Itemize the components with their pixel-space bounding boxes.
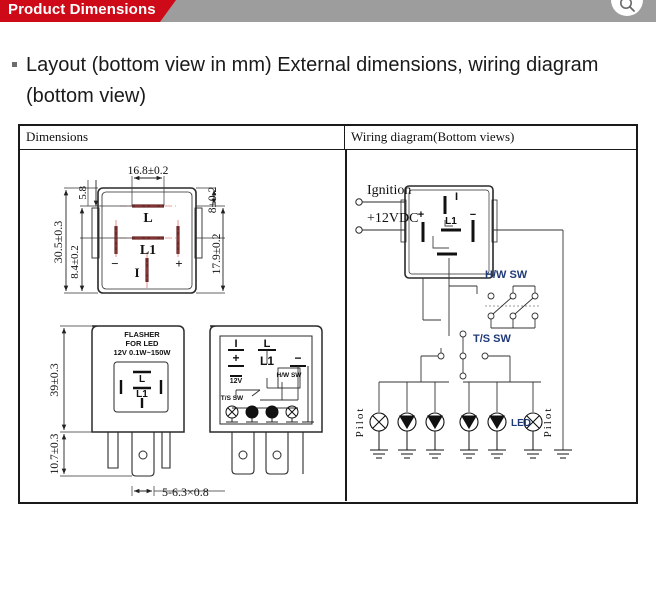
schematic-voltage: 12V (230, 378, 243, 385)
dimensions-figure: Dimensions Wiring diagram(Bottom views) (18, 124, 638, 504)
label-for-led: FOR LED (126, 339, 159, 348)
label-flasher: FLASHER (124, 330, 160, 339)
label-ignition: Ignition (367, 183, 411, 198)
dim-left-outer: 30.5±0.3 (51, 221, 65, 264)
schematic-hw-sw-line1: H/W SW (277, 372, 303, 379)
terminal-label-minus: − (111, 256, 118, 271)
schematic-terminal-minus: − (294, 351, 301, 365)
heading-label: Layout (bottom view in mm) External dime… (26, 50, 606, 112)
terminal-label-l: L (143, 211, 152, 226)
schematic-terminal-l1: L1 (260, 354, 274, 368)
square-bullet-icon (12, 62, 17, 67)
dim-top-width: 16.8±0.2 (128, 165, 169, 177)
dimension-drawings: 5.8 16.8±0.2 8±0.2 30.5±0.3 8.4±0.2 17.9… (20, 150, 345, 528)
terminal-label-i: I (134, 265, 139, 280)
schematic-ts-sw: T/S SW (221, 395, 244, 402)
relay-terminal-plus: + (418, 209, 424, 221)
dim-top-small: 5.8 (77, 186, 89, 200)
schematic-terminal-i: I (234, 338, 237, 350)
schematic-terminal-plus: + (232, 351, 239, 365)
relay-terminal-minus: − (470, 209, 476, 221)
label-pilot-left: Pilot (354, 407, 366, 438)
label-hw-sw: H/W SW (485, 269, 528, 281)
dim-top-right: 8±0.2 (207, 187, 219, 214)
dim-pin-spec: 5-6.3×0.8 (162, 485, 209, 499)
label-supply-voltage: +12VDC (367, 211, 418, 226)
relay-terminal-i: I (455, 191, 458, 203)
terminal-label-plus: + (175, 256, 182, 271)
dim-pin-height: 10.7±0.3 (49, 433, 61, 474)
label-pilot-right: Pilot (542, 407, 554, 438)
face-terminal-l1: L1 (136, 389, 148, 400)
panel-header-wiring: Wiring diagram(Bottom views) (345, 126, 637, 150)
schematic-terminal-l: L (264, 338, 271, 350)
dim-body-height: 39±0.3 (47, 363, 61, 397)
banner-title: Product Dimensions (8, 1, 156, 18)
wiring-diagram: Ignition +12VDC I + − L1 H/W SW T/S SW L… (345, 150, 637, 528)
magnifier-icon (617, 0, 637, 14)
label-power-rating: 12V 0.1W~150W (114, 348, 172, 357)
terminal-label-l1: L1 (140, 243, 156, 258)
label-ts-sw: T/S SW (473, 333, 512, 345)
label-led: LED (511, 418, 531, 429)
relay-terminal-l1: L1 (445, 216, 457, 227)
dim-left-inner: 8.4±0.2 (69, 245, 81, 279)
face-terminal-l: L (139, 374, 145, 385)
panel-header-dimensions: Dimensions (20, 126, 345, 150)
dim-right-inner: 17.9±0.2 (211, 233, 223, 274)
